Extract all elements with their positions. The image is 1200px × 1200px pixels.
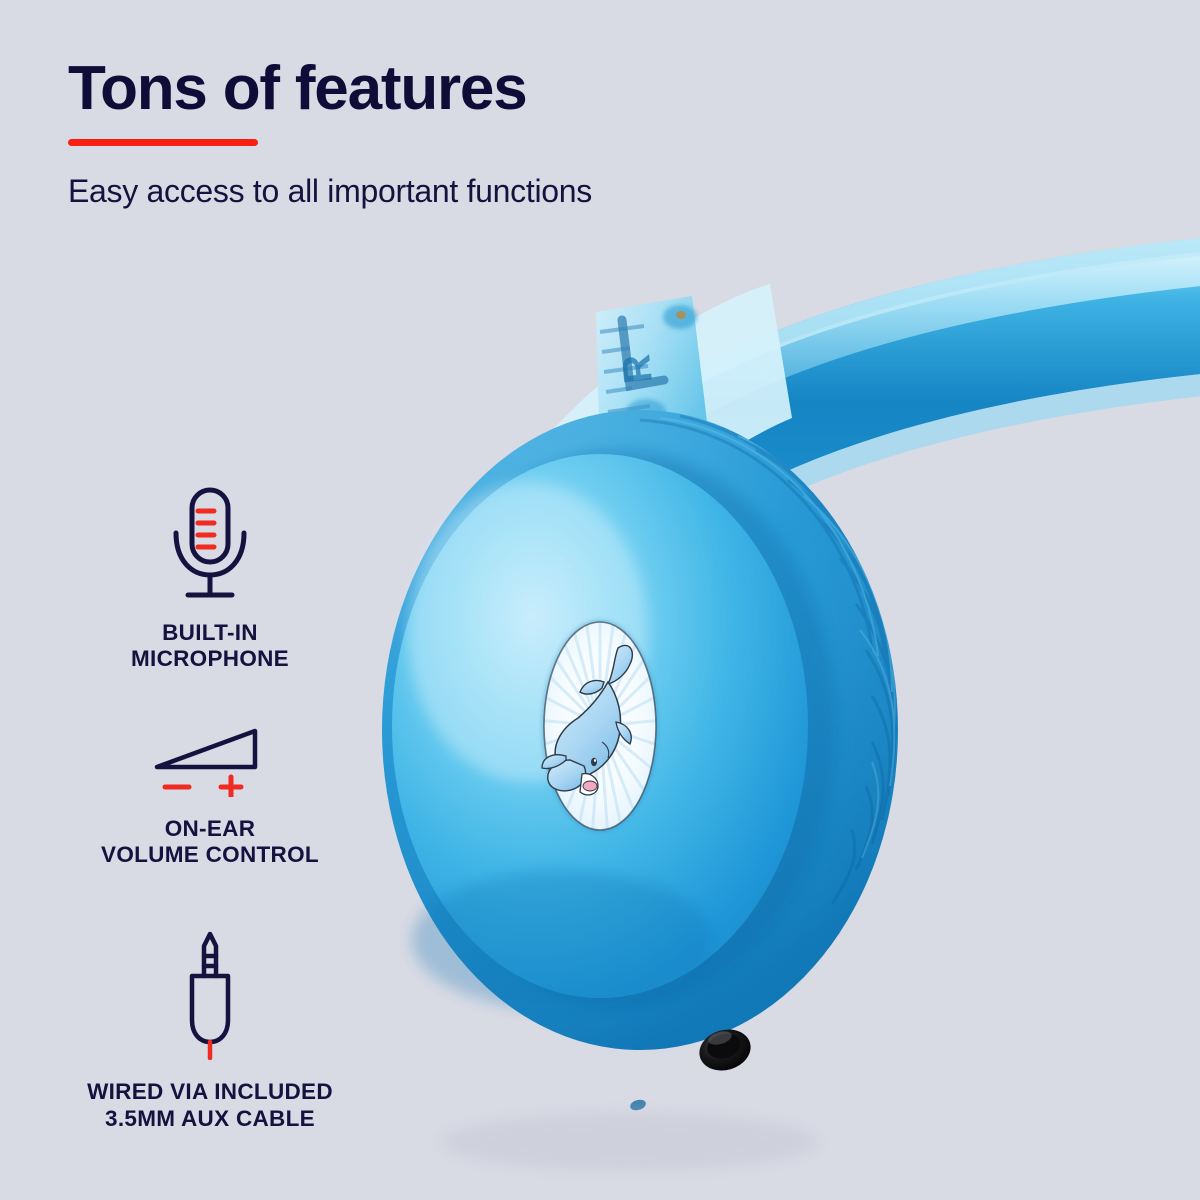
feature-list: BUILT-IN MICROPHONE ON-EAR VOLUME CONTRO… xyxy=(55,485,365,1180)
microphone-icon xyxy=(162,485,258,606)
earcup-outer-plate xyxy=(392,454,808,1010)
feature-item-volume-control: ON-EAR VOLUME CONTROL xyxy=(55,725,365,869)
dolphin-mascot xyxy=(542,645,632,794)
earcup-dolphin-badge xyxy=(537,616,663,838)
aux-port-3-5mm xyxy=(694,1024,755,1077)
headband-channel-marking: R xyxy=(614,352,661,385)
volume-wedge-icon xyxy=(151,725,269,802)
page-title: Tons of features xyxy=(68,56,828,121)
feature-label-volume-control: ON-EAR VOLUME CONTROL xyxy=(101,816,319,869)
header-block: Tons of features Easy access to all impo… xyxy=(68,56,828,210)
product-photo-headphones: R xyxy=(300,180,1200,1200)
feature-label-aux-cable: WIRED VIA INCLUDED 3.5MM AUX CABLE xyxy=(87,1079,333,1132)
earcup-ports xyxy=(629,1024,756,1112)
feature-item-microphone: BUILT-IN MICROPHONE xyxy=(55,485,365,673)
headband-slider-panel: R xyxy=(516,284,792,608)
feature-item-aux-cable: WIRED VIA INCLUDED 3.5MM AUX CABLE xyxy=(55,930,365,1132)
page-subtitle: Easy access to all important functions xyxy=(68,173,828,210)
earcup-cushion xyxy=(382,410,898,1050)
feature-label-microphone: BUILT-IN MICROPHONE xyxy=(131,620,289,673)
microphone-pinhole xyxy=(629,1098,647,1112)
aux-plug-icon xyxy=(168,930,252,1065)
headphone-yoke-arm xyxy=(511,476,692,701)
headphone-headband xyxy=(550,236,1200,600)
feature-callout-page: Tons of features Easy access to all impo… xyxy=(0,0,1200,1200)
accent-underline-bar xyxy=(68,139,258,146)
